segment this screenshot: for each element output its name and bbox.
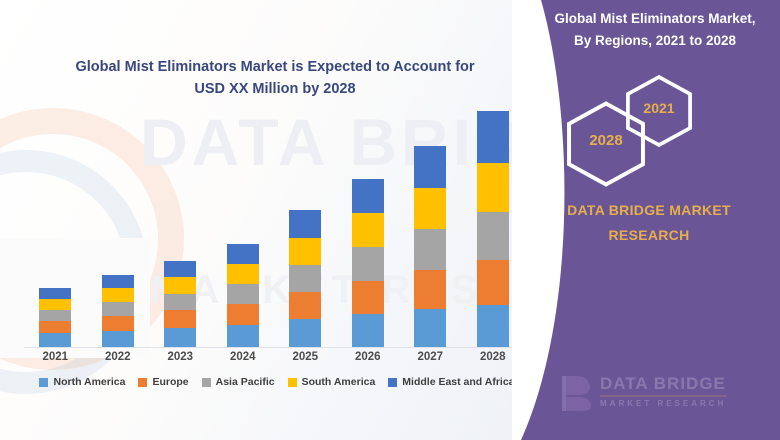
- bar-segment[interactable]: [39, 310, 71, 321]
- legend-label: Europe: [152, 376, 188, 388]
- bar-column: [87, 275, 149, 347]
- bar-segment[interactable]: [164, 261, 196, 277]
- bar-segment[interactable]: [227, 244, 259, 264]
- bar-segment[interactable]: [227, 264, 259, 284]
- bar-column: [399, 146, 461, 347]
- legend-label: Asia Pacific: [216, 376, 275, 388]
- chart-title-line-2: USD XX Million by 2028: [40, 78, 510, 100]
- hexagon-badge-2028: 2028: [562, 100, 650, 188]
- bar-segment[interactable]: [414, 146, 446, 188]
- bar-segment[interactable]: [289, 265, 321, 292]
- bar-column: [212, 244, 274, 347]
- brand-name-line-2: RESEARCH: [536, 223, 762, 248]
- legend-item[interactable]: Middle East and Africa: [388, 376, 514, 388]
- bar-segment[interactable]: [352, 247, 384, 281]
- chart-title-line-1: Global Mist Eliminators Market is Expect…: [40, 56, 510, 78]
- brand-logo-mark-icon: [560, 374, 594, 412]
- stacked-bar[interactable]: [289, 210, 321, 347]
- bar-segment[interactable]: [289, 319, 321, 347]
- bar-segment[interactable]: [477, 111, 509, 163]
- stacked-bar[interactable]: [227, 244, 259, 347]
- legend-item[interactable]: Europe: [138, 376, 188, 388]
- stacked-bar[interactable]: [414, 146, 446, 347]
- bar-segment[interactable]: [102, 275, 134, 288]
- bar-segment[interactable]: [39, 333, 71, 347]
- infographic-root: DATA BRIDGE MARKET RESEARCH Global Mist …: [0, 0, 780, 440]
- legend-label: Middle East and Africa: [402, 376, 514, 388]
- bar-segment[interactable]: [164, 277, 196, 294]
- x-axis-tick-2025: 2025: [274, 351, 336, 363]
- bar-segment[interactable]: [227, 325, 259, 347]
- brand-logo-rule: [600, 395, 726, 397]
- hexagon-badges: 2021 2028: [540, 74, 770, 186]
- x-axis-tick-2027: 2027: [399, 351, 461, 363]
- chart-plot-area: [24, 100, 524, 348]
- legend-item[interactable]: North America: [39, 376, 125, 388]
- brand-name: DATA BRIDGE MARKET RESEARCH: [536, 198, 762, 247]
- bar-segment[interactable]: [102, 288, 134, 302]
- bar-segment[interactable]: [164, 328, 196, 347]
- x-axis-tick-2022: 2022: [87, 351, 149, 363]
- bar-segment[interactable]: [289, 238, 321, 265]
- stacked-bar[interactable]: [164, 261, 196, 347]
- stacked-bar[interactable]: [102, 275, 134, 347]
- bar-segment[interactable]: [352, 314, 384, 347]
- bar-segment[interactable]: [227, 304, 259, 325]
- brand-panel: Global Mist Eliminators Market, By Regio…: [512, 0, 780, 440]
- x-axis-tick-2026: 2026: [337, 351, 399, 363]
- legend-swatch-icon: [138, 378, 147, 387]
- legend-swatch-icon: [39, 378, 48, 387]
- hexagon-label-2028: 2028: [562, 132, 650, 149]
- bar-segment[interactable]: [477, 212, 509, 260]
- bar-segment[interactable]: [414, 270, 446, 309]
- chart-legend: North AmericaEuropeAsia PacificSouth Ame…: [12, 376, 542, 388]
- x-axis-tick-2021: 2021: [24, 351, 86, 363]
- stacked-bar[interactable]: [352, 179, 384, 347]
- legend-swatch-icon: [288, 378, 297, 387]
- brand-title-line-1: Global Mist Eliminators Market,: [542, 8, 768, 30]
- bar-segment[interactable]: [39, 321, 71, 333]
- x-axis-labels: 20212022202320242025202620272028: [24, 351, 524, 363]
- brand-logo-text-top: DATA BRIDGE: [600, 374, 726, 394]
- legend-item[interactable]: Asia Pacific: [202, 376, 275, 388]
- bar-segment[interactable]: [39, 299, 71, 310]
- bar-segment[interactable]: [102, 331, 134, 347]
- bar-segment[interactable]: [414, 188, 446, 229]
- bar-segment[interactable]: [227, 284, 259, 304]
- bar-segment[interactable]: [477, 163, 509, 212]
- legend-swatch-icon: [202, 378, 211, 387]
- legend-label: North America: [53, 376, 125, 388]
- x-axis-line: [24, 347, 524, 348]
- brand-title-line-2: By Regions, 2021 to 2028: [542, 30, 768, 52]
- chart-title: Global Mist Eliminators Market is Expect…: [40, 56, 510, 101]
- bar-segment[interactable]: [102, 302, 134, 316]
- stacked-bar[interactable]: [477, 111, 509, 347]
- bar-segment[interactable]: [414, 229, 446, 270]
- legend-item[interactable]: South America: [288, 376, 376, 388]
- bar-column: [274, 210, 336, 347]
- bar-segment[interactable]: [352, 213, 384, 247]
- x-axis-tick-2024: 2024: [212, 351, 274, 363]
- bar-segment[interactable]: [289, 292, 321, 319]
- x-axis-tick-2023: 2023: [149, 351, 211, 363]
- brand-logo: DATA BRIDGE MARKET RESEARCH: [560, 370, 760, 422]
- bar-column: [337, 179, 399, 347]
- bar-segment[interactable]: [39, 288, 71, 299]
- chart-panel: DATA BRIDGE MARKET RESEARCH Global Mist …: [0, 0, 560, 440]
- bar-column: [149, 261, 211, 347]
- brand-panel-title: Global Mist Eliminators Market, By Regio…: [542, 8, 768, 51]
- bar-segment[interactable]: [352, 179, 384, 213]
- bar-segment[interactable]: [477, 305, 509, 347]
- brand-logo-text-bottom: MARKET RESEARCH: [600, 399, 726, 408]
- bar-segment[interactable]: [164, 294, 196, 310]
- bar-segment[interactable]: [289, 210, 321, 238]
- bar-segment[interactable]: [477, 260, 509, 305]
- bar-segment[interactable]: [164, 310, 196, 328]
- stacked-bar[interactable]: [39, 288, 71, 347]
- bar-segment[interactable]: [102, 316, 134, 331]
- bar-segment[interactable]: [414, 309, 446, 347]
- bar-group: [24, 100, 524, 347]
- bar-segment[interactable]: [352, 281, 384, 314]
- bar-column: [24, 288, 86, 347]
- brand-name-line-1: DATA BRIDGE MARKET: [536, 198, 762, 223]
- legend-swatch-icon: [388, 378, 397, 387]
- legend-label: South America: [302, 376, 376, 388]
